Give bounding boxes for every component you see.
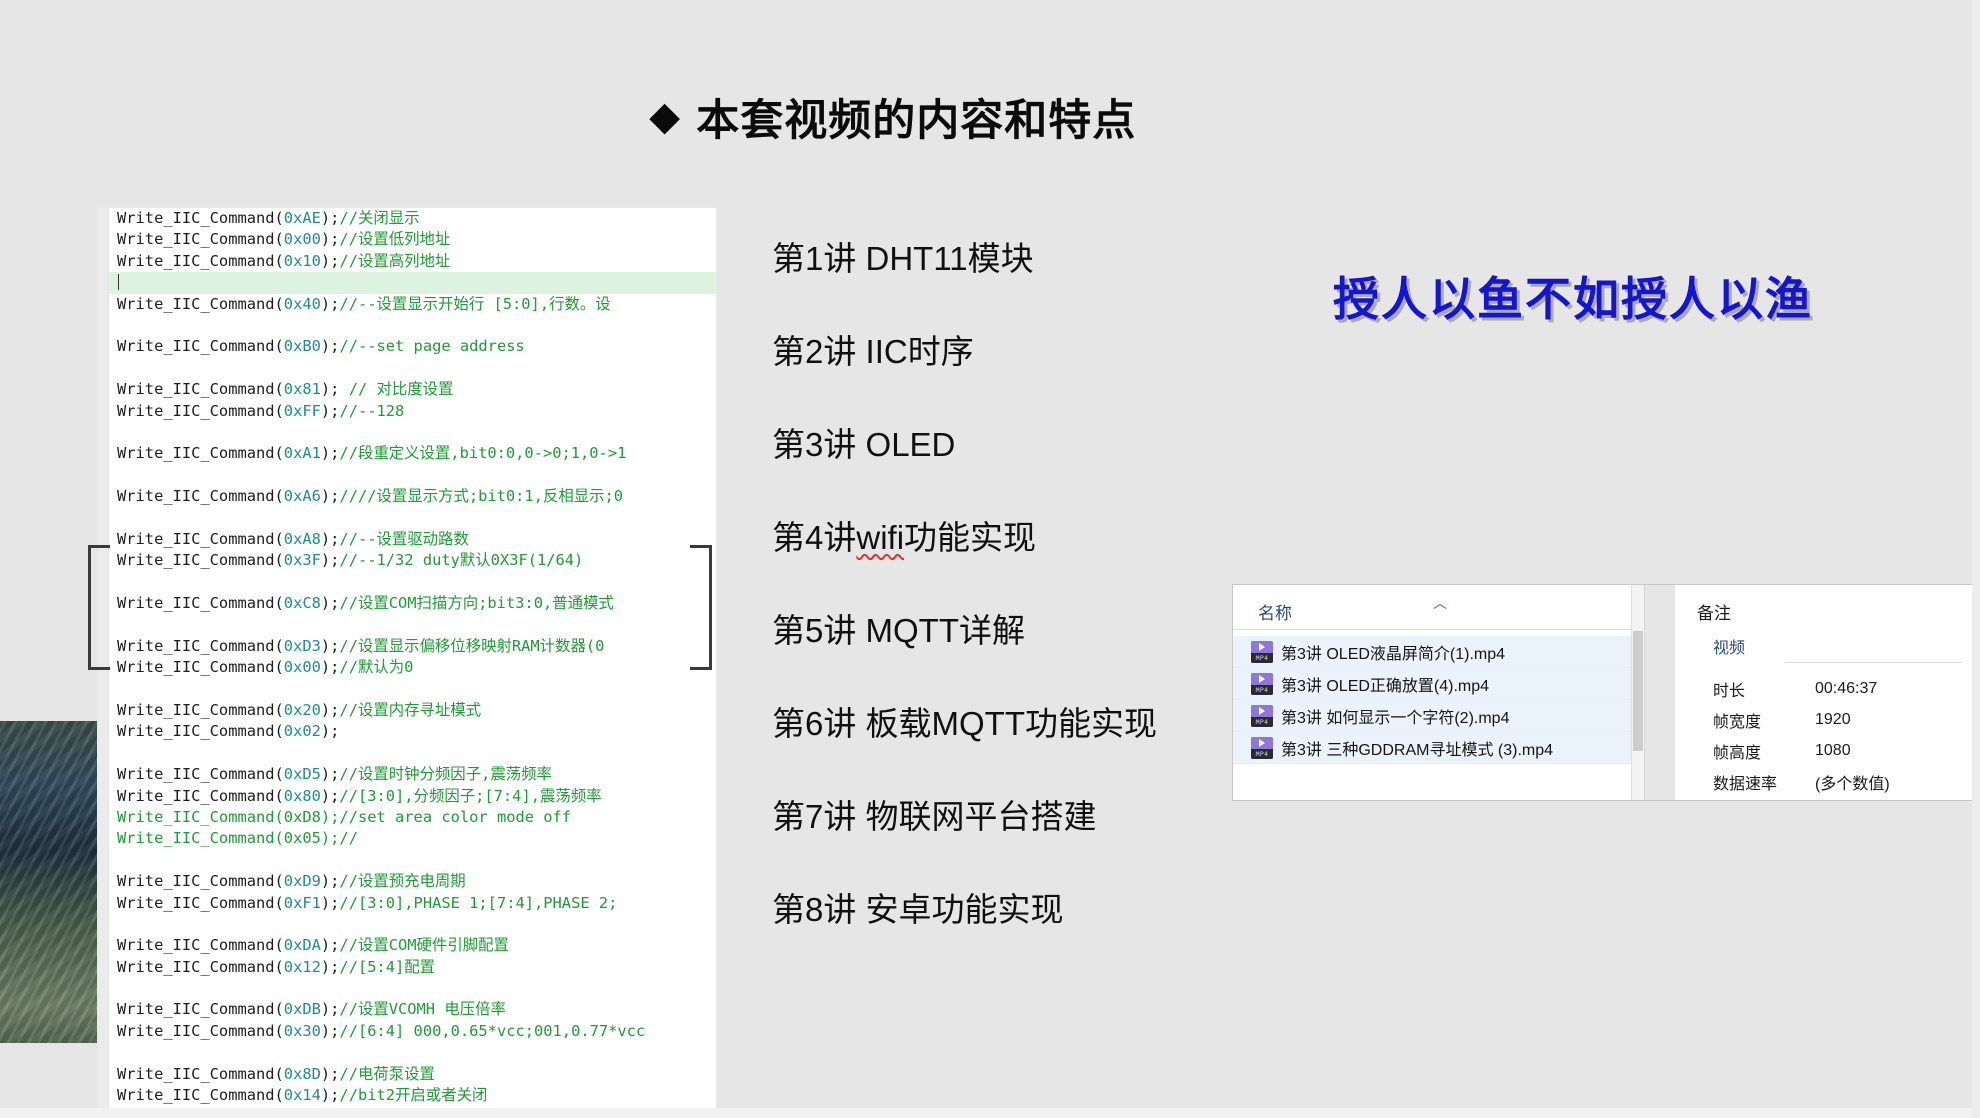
code-line: Write_IIC_Command(0xD8);//set area color… — [109, 807, 716, 828]
code-line-blank — [109, 1042, 716, 1063]
property-label: 帧宽度 — [1675, 708, 1815, 732]
code-function-name: Write_IIC_Command( — [117, 808, 284, 826]
code-function-name: Write_IIC_Command( — [117, 1086, 284, 1104]
code-punctuation: ); — [321, 829, 340, 847]
mp4-file-icon: MP4 — [1251, 641, 1273, 663]
property-value: 00:46:37 — [1815, 680, 1980, 698]
lecture-item-label: 第5讲 MQTT详解 — [772, 613, 1025, 649]
text-caret — [118, 274, 119, 290]
code-hex-literal: 0x8D — [284, 1065, 321, 1083]
code-line-blank — [109, 422, 716, 443]
file-type-tag: MP4 — [1251, 685, 1273, 695]
code-comment: //默认为0 — [339, 658, 413, 676]
property-value: (多个数值) — [1815, 770, 1980, 794]
code-function-name: Write_IIC_Command( — [117, 872, 284, 890]
code-function-name: Write_IIC_Command( — [117, 230, 284, 248]
lecture-item: 第4讲 wifi功能实现 — [772, 492, 1157, 585]
lecture-item-label: 第3讲 OLED — [772, 427, 955, 463]
file-list-item[interactable]: MP4第3讲 三种GDDRAM寻址模式 (3).mp4 — [1233, 732, 1644, 764]
code-hex-literal: 0xD5 — [284, 765, 321, 783]
code-function-name: Write_IIC_Command( — [117, 936, 284, 954]
code-punctuation: ); — [321, 594, 340, 612]
code-line: Write_IIC_Command(0x30);//[6:4] 000,0.65… — [109, 1021, 716, 1042]
sort-ascending-icon[interactable]: ︿ — [1433, 593, 1447, 613]
code-line: Write_IIC_Command(0x8D);//电荷泵设置 — [109, 1064, 716, 1085]
code-hex-literal: 0xA8 — [284, 530, 321, 548]
code-line-blank — [109, 850, 716, 871]
code-punctuation: ); — [321, 530, 340, 548]
mp4-file-icon: MP4 — [1251, 737, 1273, 759]
column-header-name[interactable]: 名称 — [1258, 599, 1292, 624]
code-hex-literal: 0xC8 — [284, 594, 321, 612]
code-comment: //[3:0],分频因子;[7:4],震荡频率 — [339, 787, 601, 805]
code-comment: //设置VCOMH 电压倍率 — [339, 1000, 505, 1018]
code-line: Write_IIC_Command(0xF1);//[3:0],PHASE 1;… — [109, 893, 716, 914]
code-hex-literal: 0x05 — [284, 829, 321, 847]
page-title-text: 本套视频的内容和特点 — [696, 86, 1136, 148]
lecture-item-label: 第2讲 IIC时序 — [772, 334, 974, 370]
code-line: Write_IIC_Command(0xD5);//设置时钟分频因子,震荡频率 — [109, 764, 716, 785]
file-type-tag: MP4 — [1251, 717, 1273, 727]
code-punctuation: ); — [321, 551, 340, 569]
lecture-item: 第2讲 IIC时序 — [772, 306, 1157, 399]
property-label: 数据速率 — [1675, 770, 1815, 794]
code-hex-literal: 0xD8 — [284, 808, 321, 826]
file-name: 第3讲 OLED液晶屏简介(1).mp4 — [1281, 640, 1505, 664]
code-function-name: Write_IIC_Command( — [117, 658, 284, 676]
code-line: Write_IIC_Command(0xDA);//设置COM硬件引脚配置 — [109, 935, 716, 956]
code-punctuation: ); — [321, 787, 340, 805]
code-function-name: Write_IIC_Command( — [117, 894, 284, 912]
code-function-name: Write_IIC_Command( — [117, 1065, 284, 1083]
property-row: 时长00:46:37 — [1675, 673, 1980, 704]
code-hex-literal: 0xB0 — [284, 337, 321, 355]
lecture-item: 第8讲 安卓功能实现 — [772, 864, 1157, 957]
lecture-item-suffix: 功能实现 — [904, 520, 1036, 556]
code-function-name: Write_IIC_Command( — [117, 637, 284, 655]
property-row: 数据速率(多个数值) — [1675, 766, 1980, 797]
lecture-item-label: 第8讲 安卓功能实现 — [772, 892, 1064, 928]
code-function-name: Write_IIC_Command( — [117, 551, 284, 569]
code-annotation-bracket-right — [690, 545, 712, 670]
property-label: 帧高度 — [1675, 739, 1815, 763]
code-hex-literal: 0x30 — [284, 1022, 321, 1040]
code-punctuation: ); — [321, 808, 340, 826]
code-line: Write_IIC_Command(0x14);//bit2开启或者关闭 — [109, 1085, 716, 1106]
code-function-name: Write_IIC_Command( — [117, 1022, 284, 1040]
code-comment: //设置高列地址 — [339, 252, 450, 270]
code-hex-literal: 0x81 — [284, 380, 321, 398]
explorer-pane-gap — [1645, 585, 1675, 800]
diamond-bullet-icon: ◆ — [650, 98, 680, 136]
code-line-blank — [109, 614, 716, 635]
details-title: 备注 — [1697, 599, 1980, 624]
code-annotation-bracket-left — [88, 545, 110, 670]
code-hex-literal: 0xAE — [284, 209, 321, 227]
code-punctuation: ); — [321, 936, 340, 954]
code-line-blank — [109, 572, 716, 593]
file-list-item[interactable]: MP4第3讲 如何显示一个字符(2).mp4 — [1233, 700, 1644, 732]
code-function-name: Write_IIC_Command( — [117, 1000, 284, 1018]
code-line: Write_IIC_Command(0xC8);//设置COM扫描方向;bit3… — [109, 593, 716, 614]
details-section-label: 视频 — [1713, 634, 1980, 658]
explorer-file-pane: 名称 ︿ MP4第3讲 OLED液晶屏简介(1).mp4MP4第3讲 OLED正… — [1233, 585, 1645, 800]
file-type-tag: MP4 — [1251, 653, 1273, 663]
code-comment: //电荷泵设置 — [339, 1065, 435, 1083]
explorer-file-list: MP4第3讲 OLED液晶屏简介(1).mp4MP4第3讲 OLED正确放置(4… — [1233, 630, 1644, 764]
code-hex-literal: 0x14 — [284, 1086, 321, 1104]
code-comment: //设置时钟分频因子,震荡频率 — [339, 765, 552, 783]
file-name: 第3讲 三种GDDRAM寻址模式 (3).mp4 — [1281, 736, 1553, 760]
explorer-column-header: 名称 ︿ — [1233, 585, 1644, 630]
code-function-name: Write_IIC_Command( — [117, 337, 284, 355]
code-hex-literal: 0x02 — [284, 722, 321, 740]
code-line: Write_IIC_Command(0xDB);//设置VCOMH 电压倍率 — [109, 999, 716, 1020]
file-explorer-screenshot: 名称 ︿ MP4第3讲 OLED液晶屏简介(1).mp4MP4第3讲 OLED正… — [1233, 585, 1980, 800]
code-hex-literal: 0xFF — [284, 402, 321, 420]
lecture-item: 第5讲 MQTT详解 — [772, 585, 1157, 678]
code-punctuation: ); — [321, 701, 340, 719]
code-punctuation: ); — [321, 380, 340, 398]
code-comment: //设置低列地址 — [339, 230, 450, 248]
code-punctuation: ); — [321, 1065, 340, 1083]
lecture-item: 第3讲 OLED — [772, 399, 1157, 492]
lecture-list: 第1讲 DHT11模块第2讲 IIC时序第3讲 OLED第4讲 wifi功能实现… — [772, 213, 1157, 957]
page-title: ◆ 本套视频的内容和特点 — [650, 86, 1136, 148]
code-punctuation: ); — [321, 252, 340, 270]
code-function-name: Write_IIC_Command( — [117, 594, 284, 612]
slide-right-edge — [1972, 0, 1980, 1118]
file-list-item[interactable]: MP4第3讲 OLED液晶屏简介(1).mp4 — [1233, 636, 1644, 668]
lecture-item-label: 第1讲 DHT11模块 — [772, 241, 1034, 277]
code-punctuation: ); — [321, 402, 340, 420]
code-hex-literal: 0xDA — [284, 936, 321, 954]
presentation-slide: ◆ 本套视频的内容和特点 Write_IIC_Command(0xAE);//关… — [0, 0, 1980, 1118]
code-line-blank — [109, 465, 716, 486]
file-name: 第3讲 如何显示一个字符(2).mp4 — [1281, 704, 1509, 728]
code-comment: //设置预充电周期 — [339, 872, 465, 890]
code-punctuation: ); — [321, 958, 340, 976]
code-hex-literal: 0x00 — [284, 230, 321, 248]
code-function-name: Write_IIC_Command( — [117, 295, 284, 313]
code-comment: //设置COM扫描方向;bit3:0,普通模式 — [339, 594, 613, 612]
code-line: Write_IIC_Command(0xFF);//--128 — [109, 401, 716, 422]
code-line: Write_IIC_Command(0x20);//设置内存寻址模式 — [109, 700, 716, 721]
code-punctuation: ); — [321, 295, 340, 313]
code-comment: // 对比度设置 — [339, 380, 453, 398]
code-comment: //set area color mode off — [339, 808, 571, 826]
code-hex-literal: 0xA1 — [284, 444, 321, 462]
code-comment: // — [339, 829, 358, 847]
code-line: Write_IIC_Command(0x05);// — [109, 828, 716, 849]
code-punctuation: ); — [321, 444, 340, 462]
code-hex-literal: 0x10 — [284, 252, 321, 270]
code-line-blank — [109, 978, 716, 999]
play-triangle-icon — [1251, 737, 1273, 749]
code-line: Write_IIC_Command(0xA6);////设置显示方式;bit0:… — [109, 486, 716, 507]
code-comment: //bit2开启或者关闭 — [339, 1086, 487, 1104]
code-function-name: Write_IIC_Command( — [117, 487, 284, 505]
code-line: Write_IIC_Command(0x00);//默认为0 — [109, 657, 716, 678]
code-line: Write_IIC_Command(0x40);//--设置显示开始行 [5:0… — [109, 294, 716, 315]
code-line: Write_IIC_Command(0xA8);//--设置驱动路数 — [109, 529, 716, 550]
code-line-blank — [109, 679, 716, 700]
lecture-item: 第1讲 DHT11模块 — [772, 213, 1157, 306]
code-line-blank — [109, 743, 716, 764]
lecture-item-misspelled-word: wifi — [856, 520, 904, 556]
code-line: Write_IIC_Command(0xD3);//设置显示偏移位移映射RAM计… — [109, 636, 716, 657]
code-line-blank — [109, 914, 716, 935]
code-comment: //--set page address — [339, 337, 524, 355]
code-comment: //设置COM硬件引脚配置 — [339, 936, 508, 954]
code-punctuation: ); — [321, 765, 340, 783]
code-comment: //段重定义设置,bit0:0,0->0;1,0->1 — [339, 444, 626, 462]
code-line: Write_IIC_Command(0x81); // 对比度设置 — [109, 379, 716, 400]
code-line: Write_IIC_Command(0xD9);//设置预充电周期 — [109, 871, 716, 892]
code-punctuation: ); — [321, 637, 340, 655]
code-line: Write_IIC_Command(0xB0);//--set page add… — [109, 336, 716, 357]
code-comment: //设置显示偏移位移映射RAM计数器(0 — [339, 637, 604, 655]
code-function-name: Write_IIC_Command( — [117, 402, 284, 420]
code-punctuation: ); — [321, 658, 340, 676]
code-function-name: Write_IIC_Command( — [117, 787, 284, 805]
code-punctuation: ); — [321, 1000, 340, 1018]
explorer-scrollbar[interactable] — [1631, 585, 1644, 800]
explorer-details-pane: 备注 视频 时长00:46:37帧宽度1920帧高度1080数据速率(多个数值) — [1675, 585, 1980, 800]
code-punctuation: ); — [321, 337, 340, 355]
code-function-name: Write_IIC_Command( — [117, 444, 284, 462]
code-punctuation: ); — [321, 894, 340, 912]
play-triangle-icon — [1251, 705, 1273, 717]
play-triangle-icon — [1251, 641, 1273, 653]
property-row: 帧高度1080 — [1675, 735, 1980, 766]
code-hex-literal: 0xD9 — [284, 872, 321, 890]
code-hex-literal: 0xDB — [284, 1000, 321, 1018]
code-function-name: Write_IIC_Command( — [117, 530, 284, 548]
mp4-file-icon: MP4 — [1251, 673, 1273, 695]
code-comment: //关闭显示 — [339, 209, 419, 227]
code-punctuation: ); — [321, 487, 340, 505]
code-line-blank — [109, 507, 716, 528]
lecture-item-label: 第6讲 板载MQTT功能实现 — [772, 706, 1157, 742]
code-comment: //--1/32 duty默认0X3F(1/64) — [339, 551, 583, 569]
code-hex-literal: 0x20 — [284, 701, 321, 719]
code-line-blank — [109, 358, 716, 379]
code-comment: //[5:4]配置 — [339, 958, 435, 976]
code-comment: //设置内存寻址模式 — [339, 701, 481, 719]
lecture-item: 第7讲 物联网平台搭建 — [772, 771, 1157, 864]
code-function-name: Write_IIC_Command( — [117, 252, 284, 270]
code-function-name: Write_IIC_Command( — [117, 958, 284, 976]
details-section-rule — [1785, 662, 1962, 663]
property-value: 1920 — [1815, 711, 1980, 729]
code-punctuation: ); — [321, 872, 340, 890]
code-line: Write_IIC_Command(0xA1);//段重定义设置,bit0:0,… — [109, 443, 716, 464]
code-lines: Write_IIC_Command(0xAE);//关闭显示Write_IIC_… — [109, 208, 716, 1118]
mp4-file-icon: MP4 — [1251, 705, 1273, 727]
code-function-name: Write_IIC_Command( — [117, 701, 284, 719]
code-hex-literal: 0x80 — [284, 787, 321, 805]
code-hex-literal: 0x00 — [284, 658, 321, 676]
property-row: 帧宽度1920 — [1675, 704, 1980, 735]
code-hex-literal: 0x12 — [284, 958, 321, 976]
code-comment: //--设置驱动路数 — [339, 530, 468, 548]
code-comment: ////设置显示方式;bit0:1,反相显示;0 — [339, 487, 623, 505]
code-line: Write_IIC_Command(0x00);//设置低列地址 — [109, 229, 716, 250]
code-comment: //--设置显示开始行 [5:0],行数。设 — [339, 295, 610, 313]
code-line: Write_IIC_Command(0x10);//设置高列地址 — [109, 251, 716, 272]
code-line: Write_IIC_Command(0x12);//[5:4]配置 — [109, 957, 716, 978]
details-property-rows: 时长00:46:37帧宽度1920帧高度1080数据速率(多个数值) — [1675, 673, 1980, 797]
play-triangle-icon — [1251, 673, 1273, 685]
code-hex-literal: 0xF1 — [284, 894, 321, 912]
slogan-text: 授人以鱼不如授人以渔 — [1333, 263, 1813, 329]
code-function-name: Write_IIC_Command( — [117, 765, 284, 783]
code-comment: //[6:4] 000,0.65*vcc;001,0.77*vcc — [339, 1022, 645, 1040]
code-line: Write_IIC_Command(0x02); — [109, 721, 716, 742]
code-line: Write_IIC_Command(0x3F);//--1/32 duty默认0… — [109, 550, 716, 571]
code-function-name: Write_IIC_Command( — [117, 209, 284, 227]
code-punctuation: ); — [321, 1022, 340, 1040]
code-hex-literal: 0x40 — [284, 295, 321, 313]
code-line: Write_IIC_Command(0x80);//[3:0],分频因子;[7:… — [109, 786, 716, 807]
code-punctuation: ); — [321, 209, 340, 227]
lecture-item-label: 第7讲 物联网平台搭建 — [772, 799, 1097, 835]
scrollbar-thumb[interactable] — [1633, 631, 1643, 751]
code-function-name: Write_IIC_Command( — [117, 722, 284, 740]
property-value: 1080 — [1815, 742, 1980, 760]
code-hex-literal: 0xA6 — [284, 487, 321, 505]
code-hex-literal: 0x3F — [284, 551, 321, 569]
slide-bottom-edge — [0, 1108, 1980, 1118]
code-comment: //[3:0],PHASE 1;[7:4],PHASE 2; — [339, 894, 617, 912]
file-name: 第3讲 OLED正确放置(4).mp4 — [1281, 672, 1489, 696]
file-list-item[interactable]: MP4第3讲 OLED正确放置(4).mp4 — [1233, 668, 1644, 700]
code-screenshot-panel: Write_IIC_Command(0xAE);//关闭显示Write_IIC_… — [98, 208, 716, 1118]
code-line-blank — [109, 272, 716, 293]
code-punctuation: ); — [321, 230, 340, 248]
property-label: 时长 — [1675, 677, 1815, 701]
code-comment: //--128 — [339, 402, 404, 420]
code-hex-literal: 0xD3 — [284, 637, 321, 655]
code-line: Write_IIC_Command(0xAE);//关闭显示 — [109, 208, 716, 229]
file-type-tag: MP4 — [1251, 749, 1273, 759]
code-line-blank — [109, 315, 716, 336]
lecture-item: 第6讲 板载MQTT功能实现 — [772, 678, 1157, 771]
lecture-item-prefix: 第4讲 — [772, 520, 856, 556]
code-function-name: Write_IIC_Command( — [117, 380, 284, 398]
code-punctuation: ); — [321, 722, 340, 740]
code-punctuation: ); — [321, 1086, 340, 1104]
code-function-name: Write_IIC_Command( — [117, 829, 284, 847]
